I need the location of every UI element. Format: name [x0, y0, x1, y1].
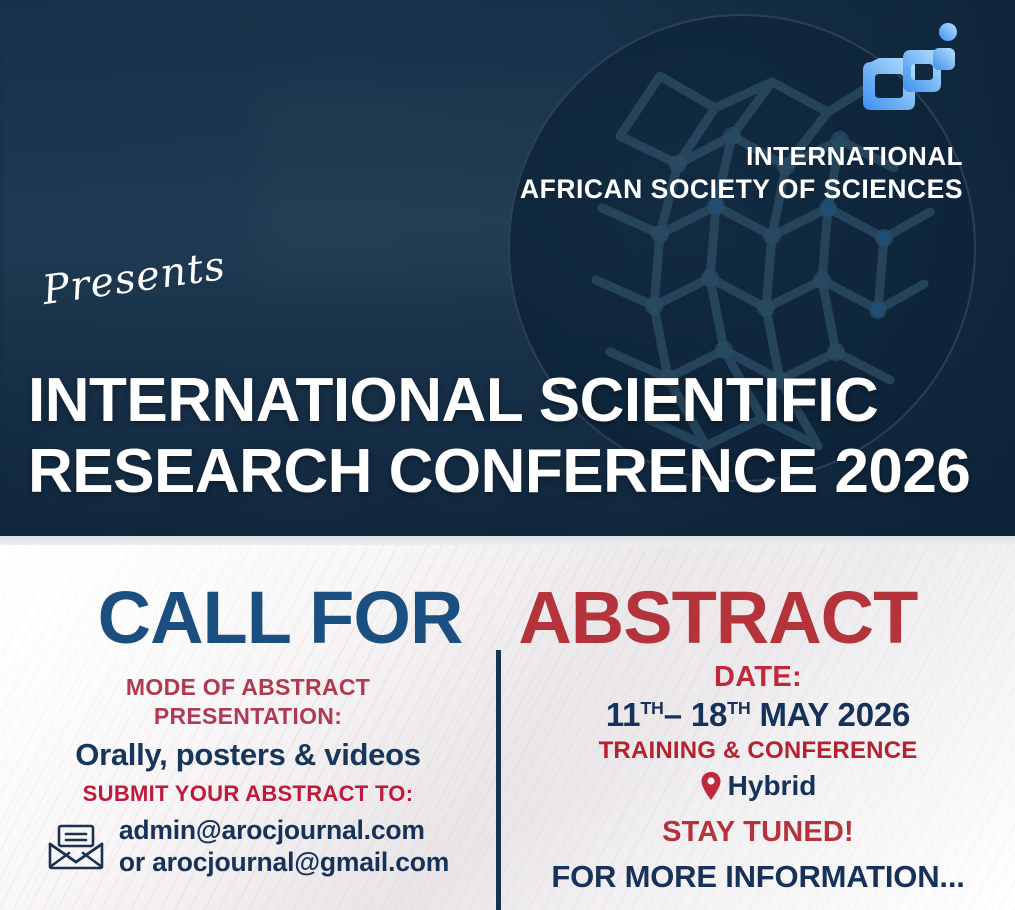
headline-part-red: ABSTRACT: [518, 576, 917, 659]
date-day-start-suffix: TH: [640, 698, 663, 718]
submit-heading: SUBMIT YOUR ABSTRACT TO:: [0, 781, 496, 807]
email-addresses: admin@arocjournal.com or arocjournal@gma…: [119, 814, 449, 879]
date-heading: DATE:: [501, 661, 1015, 694]
more-info-text: FOR MORE INFORMATION...: [501, 859, 1015, 895]
date-day-end: 18: [691, 696, 727, 733]
mode-heading-line1: MODE OF ABSTRACT: [0, 673, 496, 702]
organization-name: INTERNATIONAL AFRICAN SOCIETY OF SCIENCE…: [323, 140, 963, 207]
date-month-year: MAY 2026: [759, 696, 910, 733]
headline-part-blue: CALL FOR: [98, 576, 463, 659]
email-row: admin@arocjournal.com or arocjournal@gma…: [0, 814, 496, 879]
title-line-1: INTERNATIONAL SCIENTIFIC: [28, 366, 988, 437]
call-for-abstract-headline: CALL FOR ABSTRACT: [0, 581, 1015, 655]
email-primary[interactable]: admin@arocjournal.com: [119, 814, 449, 846]
organization-line1: INTERNATIONAL: [323, 140, 963, 173]
mode-value: Orally, posters & videos: [0, 737, 496, 773]
conference-poster: INTERNATIONAL AFRICAN SOCIETY OF SCIENCE…: [0, 0, 1015, 910]
abstract-mode-column: MODE OF ABSTRACT PRESENTATION: Orally, p…: [0, 673, 496, 879]
date-value: 11TH– 18TH MAY 2026: [501, 696, 1015, 734]
aros-logo-icon: [849, 18, 965, 128]
location-pin-icon: [700, 771, 722, 801]
date-separator: –: [664, 696, 682, 733]
stay-tuned-text: STAY TUNED!: [501, 816, 1015, 849]
event-type: TRAINING & CONFERENCE: [501, 737, 1015, 765]
title-line-2: RESEARCH CONFERENCE 2026: [28, 437, 988, 508]
organization-line2: AFRICAN SOCIETY OF SCIENCES: [323, 173, 963, 207]
date-day-end-suffix: TH: [727, 698, 750, 718]
location-text: Hybrid: [728, 770, 817, 802]
mode-heading: MODE OF ABSTRACT PRESENTATION:: [0, 673, 496, 732]
envelope-icon: [47, 822, 105, 870]
page-title: INTERNATIONAL SCIENTIFIC RESEARCH CONFER…: [28, 366, 988, 507]
poster-header: INTERNATIONAL AFRICAN SOCIETY OF SCIENCE…: [0, 0, 1015, 536]
email-secondary[interactable]: or arocjournal@gmail.com: [119, 846, 449, 878]
event-details-column: DATE: 11TH– 18TH MAY 2026 TRAINING & CON…: [501, 661, 1015, 895]
mode-heading-line2: PRESENTATION:: [0, 702, 496, 731]
date-day-start: 11: [606, 696, 641, 733]
poster-body: CALL FOR ABSTRACT MODE OF ABSTRACT PRESE…: [0, 545, 1015, 910]
location-row: Hybrid: [501, 770, 1015, 802]
